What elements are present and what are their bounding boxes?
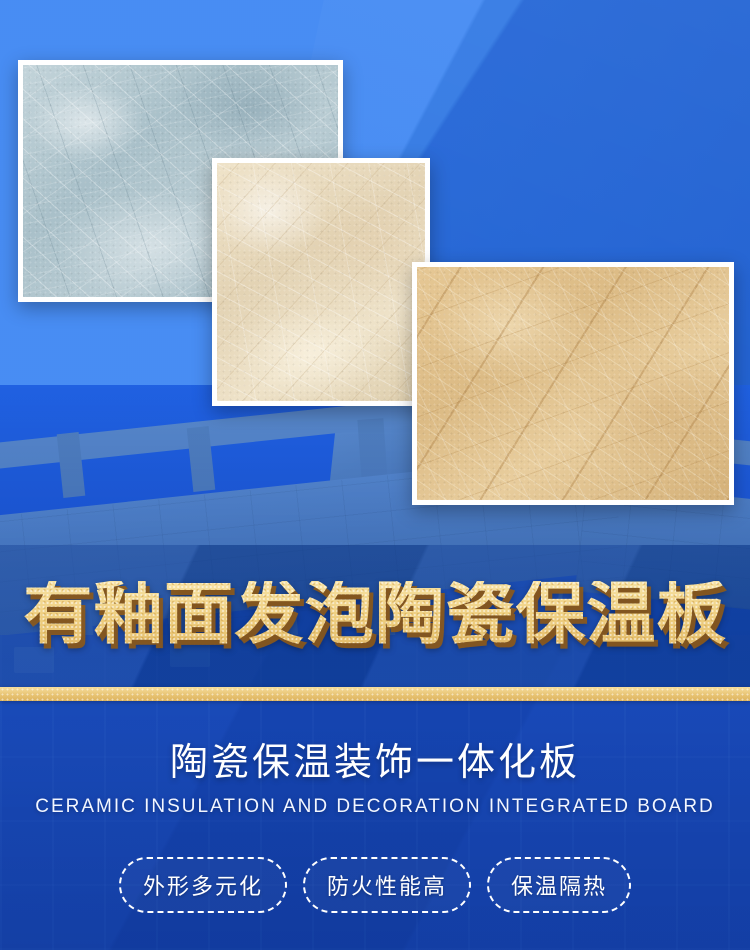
feature-tag-shape-diversity[interactable]: 外形多元化 bbox=[119, 857, 287, 913]
feature-tag-list: 外形多元化 防火性能高 保温隔热 bbox=[0, 857, 750, 913]
subtitle-english: CERAMIC INSULATION AND DECORATION INTEGR… bbox=[0, 797, 750, 818]
subtitle-chinese: 陶瓷保温装饰一体化板 bbox=[0, 742, 750, 784]
tile-sample-cream-travertine[interactable] bbox=[212, 158, 430, 406]
gold-divider bbox=[0, 687, 750, 701]
headline: 有釉面发泡陶瓷保温板 bbox=[0, 581, 750, 649]
tile-speckle bbox=[417, 267, 729, 500]
tile-sample-tan-golden-marble[interactable] bbox=[412, 262, 734, 505]
feature-tag-thermal-insulation[interactable]: 保温隔热 bbox=[487, 857, 631, 913]
tile-speckle bbox=[217, 163, 425, 401]
product-banner: 有釉面发泡陶瓷保温板 陶瓷保温装饰一体化板 CERAMIC INSULATION… bbox=[0, 0, 750, 950]
feature-tag-fire-resistance[interactable]: 防火性能高 bbox=[303, 857, 471, 913]
